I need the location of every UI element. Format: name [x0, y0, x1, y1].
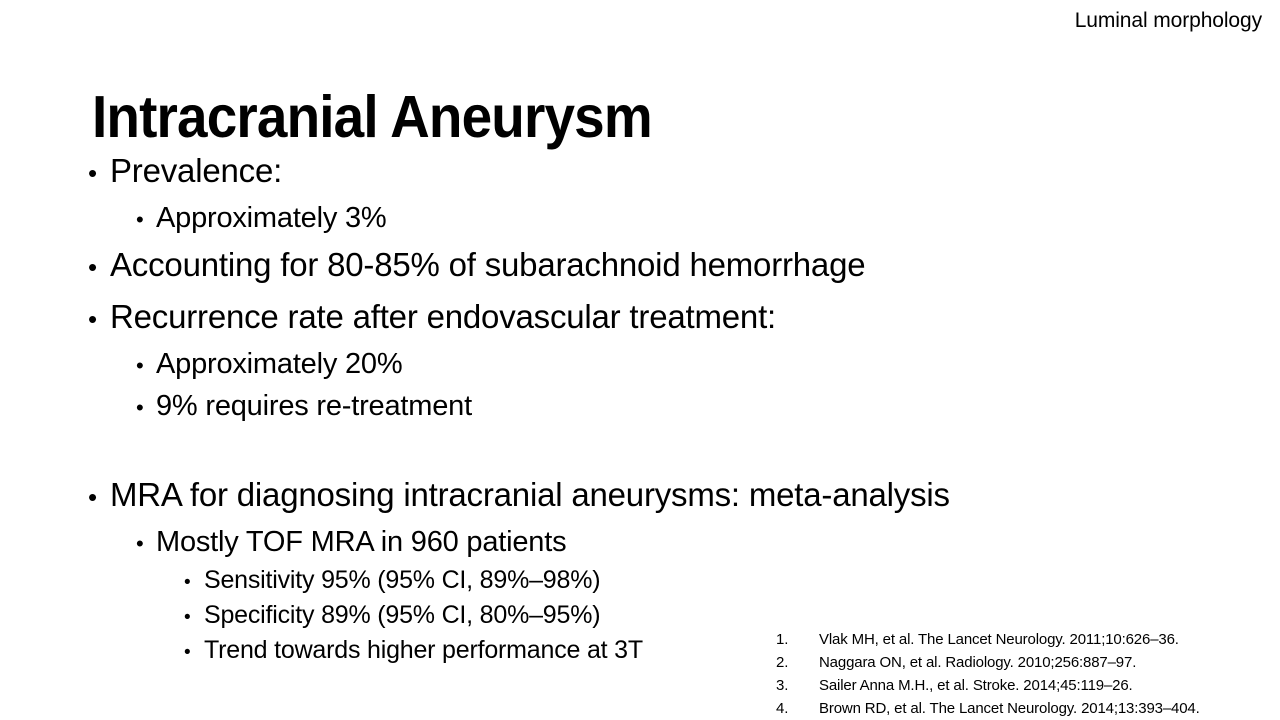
bullet-marker-icon: • — [88, 473, 110, 522]
reference-list: 1.Vlak MH, et al. The Lancet Neurology. … — [736, 628, 1280, 720]
bullet-item-label: Specificity 89% (95% CI, 80%–95%) — [204, 599, 600, 632]
reference-item: 4.Brown RD, et al. The Lancet Neurology.… — [776, 697, 1280, 720]
bullet-item-level1: •MRA for diagnosing intracranial aneurys… — [88, 470, 1088, 522]
bullet-item-label: Prevalence: — [110, 146, 282, 195]
reference-citation: Brown RD, et al. The Lancet Neurology. 2… — [819, 697, 1200, 720]
bullet-item-label: Sensitivity 95% (95% CI, 89%–98%) — [204, 564, 600, 597]
reference-citation: Sailer Anna M.H., et al. Stroke. 2014;45… — [819, 674, 1133, 697]
bullet-marker-icon: • — [88, 149, 110, 198]
reference-item: 1.Vlak MH, et al. The Lancet Neurology. … — [776, 628, 1280, 651]
bullet-item-level2: •Mostly TOF MRA in 960 patients — [88, 522, 1088, 564]
bullet-marker-icon: • — [88, 243, 110, 292]
reference-number: 2. — [776, 651, 819, 674]
bullet-item-label: Trend towards higher performance at 3T — [204, 634, 643, 667]
reference-number: 1. — [776, 628, 819, 651]
reference-citation: Vlak MH, et al. The Lancet Neurology. 20… — [819, 628, 1179, 651]
bullet-item-label: Approximately 20% — [156, 344, 402, 384]
bullet-item-level3: •Sensitivity 95% (95% CI, 89%–98%) — [88, 564, 1088, 599]
bullet-group-prevalence: •Prevalence:•Approximately 3%•Accounting… — [88, 146, 1088, 428]
bullet-marker-icon: • — [136, 524, 156, 564]
bullet-marker-icon: • — [184, 566, 204, 599]
reference-number: 3. — [776, 674, 819, 697]
reference-number: 4. — [776, 697, 819, 720]
bullet-marker-icon: • — [136, 346, 156, 386]
slide-header-label: Luminal morphology — [1075, 8, 1262, 34]
bullet-item-level2: •9% requires re-treatment — [88, 386, 1088, 428]
bullet-marker-icon: • — [184, 601, 204, 634]
bullet-group-spacer — [88, 428, 1088, 470]
bullet-item-level1: •Accounting for 80-85% of subarachnoid h… — [88, 240, 1088, 292]
reference-item: 2.Naggara ON, et al. Radiology. 2010;256… — [776, 651, 1280, 674]
bullet-marker-icon: • — [136, 388, 156, 428]
bullet-item-level1: •Prevalence: — [88, 146, 1088, 198]
bullet-marker-icon: • — [184, 636, 204, 669]
bullet-item-level2: •Approximately 3% — [88, 198, 1088, 240]
bullet-item-label: Accounting for 80-85% of subarachnoid he… — [110, 240, 865, 289]
bullet-item-level1: •Recurrence rate after endovascular trea… — [88, 292, 1088, 344]
slide-canvas: Luminal morphology Intracranial Aneurysm… — [0, 0, 1280, 720]
reference-item: 3.Sailer Anna M.H., et al. Stroke. 2014;… — [776, 674, 1280, 697]
bullet-marker-icon: • — [88, 295, 110, 344]
bullet-item-level2: •Approximately 20% — [88, 344, 1088, 386]
bullet-marker-icon: • — [136, 200, 156, 240]
bullet-item-label: Approximately 3% — [156, 198, 387, 238]
bullet-item-label: Mostly TOF MRA in 960 patients — [156, 522, 566, 562]
body-bullet-list: •Prevalence:•Approximately 3%•Accounting… — [88, 146, 1088, 669]
bullet-item-label: MRA for diagnosing intracranial aneurysm… — [110, 470, 950, 519]
bullet-item-label: Recurrence rate after endovascular treat… — [110, 292, 776, 341]
page-title: Intracranial Aneurysm — [92, 84, 652, 150]
reference-citation: Naggara ON, et al. Radiology. 2010;256:8… — [819, 651, 1136, 674]
bullet-item-label: 9% requires re-treatment — [156, 386, 472, 426]
